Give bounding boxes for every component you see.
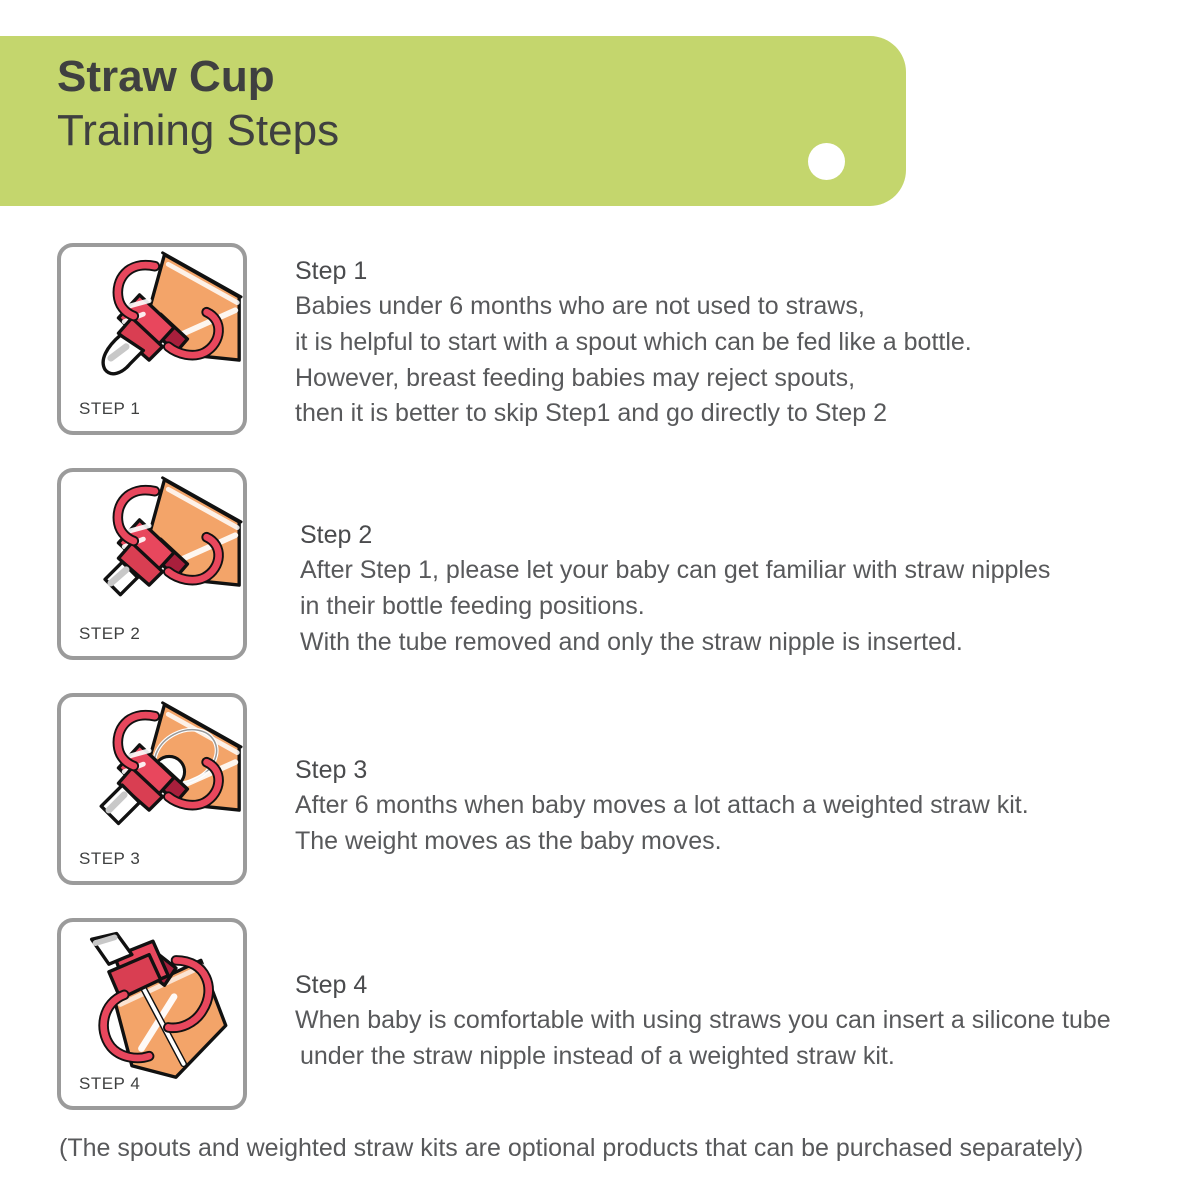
header-banner: Straw Cup Training Steps [0, 36, 906, 206]
step-3-thumbnail-label: STEP 3 [79, 849, 140, 869]
step-4-line: When baby is comfortable with using stra… [295, 1003, 1175, 1039]
step-2-heading: Step 2 [295, 518, 1175, 552]
step-1-line: Babies under 6 months who are not used t… [295, 289, 1175, 325]
step-1-heading: Step 1 [295, 254, 1175, 288]
step-1-line: it is helpful to start with a spout whic… [295, 325, 1175, 361]
circle-hole-icon [808, 143, 845, 180]
footnote-text: (The spouts and weighted straw kits are … [59, 1134, 1083, 1163]
step-3-heading: Step 3 [295, 753, 1175, 787]
step-3-text-block: Step 3 After 6 months when baby moves a … [295, 753, 1175, 860]
step-4-line: under the straw nipple instead of a weig… [295, 1039, 1175, 1075]
step-1-thumbnail-card: STEP 1 [57, 243, 247, 435]
step-1-thumbnail-label: STEP 1 [79, 399, 140, 419]
step-4-thumbnail-label: STEP 4 [79, 1074, 140, 1094]
page-title: Straw Cup [57, 54, 275, 100]
step-2-line: in their bottle feeding positions. [295, 589, 1175, 625]
step-2-text-block: Step 2 After Step 1, please let your bab… [295, 518, 1175, 660]
step-1-line: However, breast feeding babies may rejec… [295, 361, 1175, 397]
step-3-line: After 6 months when baby moves a lot att… [295, 788, 1175, 824]
step-2-line: With the tube removed and only the straw… [295, 625, 1175, 661]
step-1-line: then it is better to skip Step1 and go d… [295, 396, 1175, 432]
step-4-text-block: Step 4 When baby is comfortable with usi… [295, 968, 1175, 1075]
step-4-thumbnail-card: STEP 4 [57, 918, 247, 1110]
step-4-heading: Step 4 [295, 968, 1175, 1002]
step-2-thumbnail-label: STEP 2 [79, 624, 140, 644]
step-1-text-block: Step 1 Babies under 6 months who are not… [295, 254, 1175, 432]
step-2-line: After Step 1, please let your baby can g… [295, 553, 1175, 589]
step-3-thumbnail-card: STEP 3 [57, 693, 247, 885]
step-2-thumbnail-card: STEP 2 [57, 468, 247, 660]
straw-cup-training-steps-page: Straw Cup Training Steps [0, 0, 1200, 1200]
page-subtitle: Training Steps [57, 108, 339, 154]
step-3-line: The weight moves as the baby moves. [295, 824, 1175, 860]
